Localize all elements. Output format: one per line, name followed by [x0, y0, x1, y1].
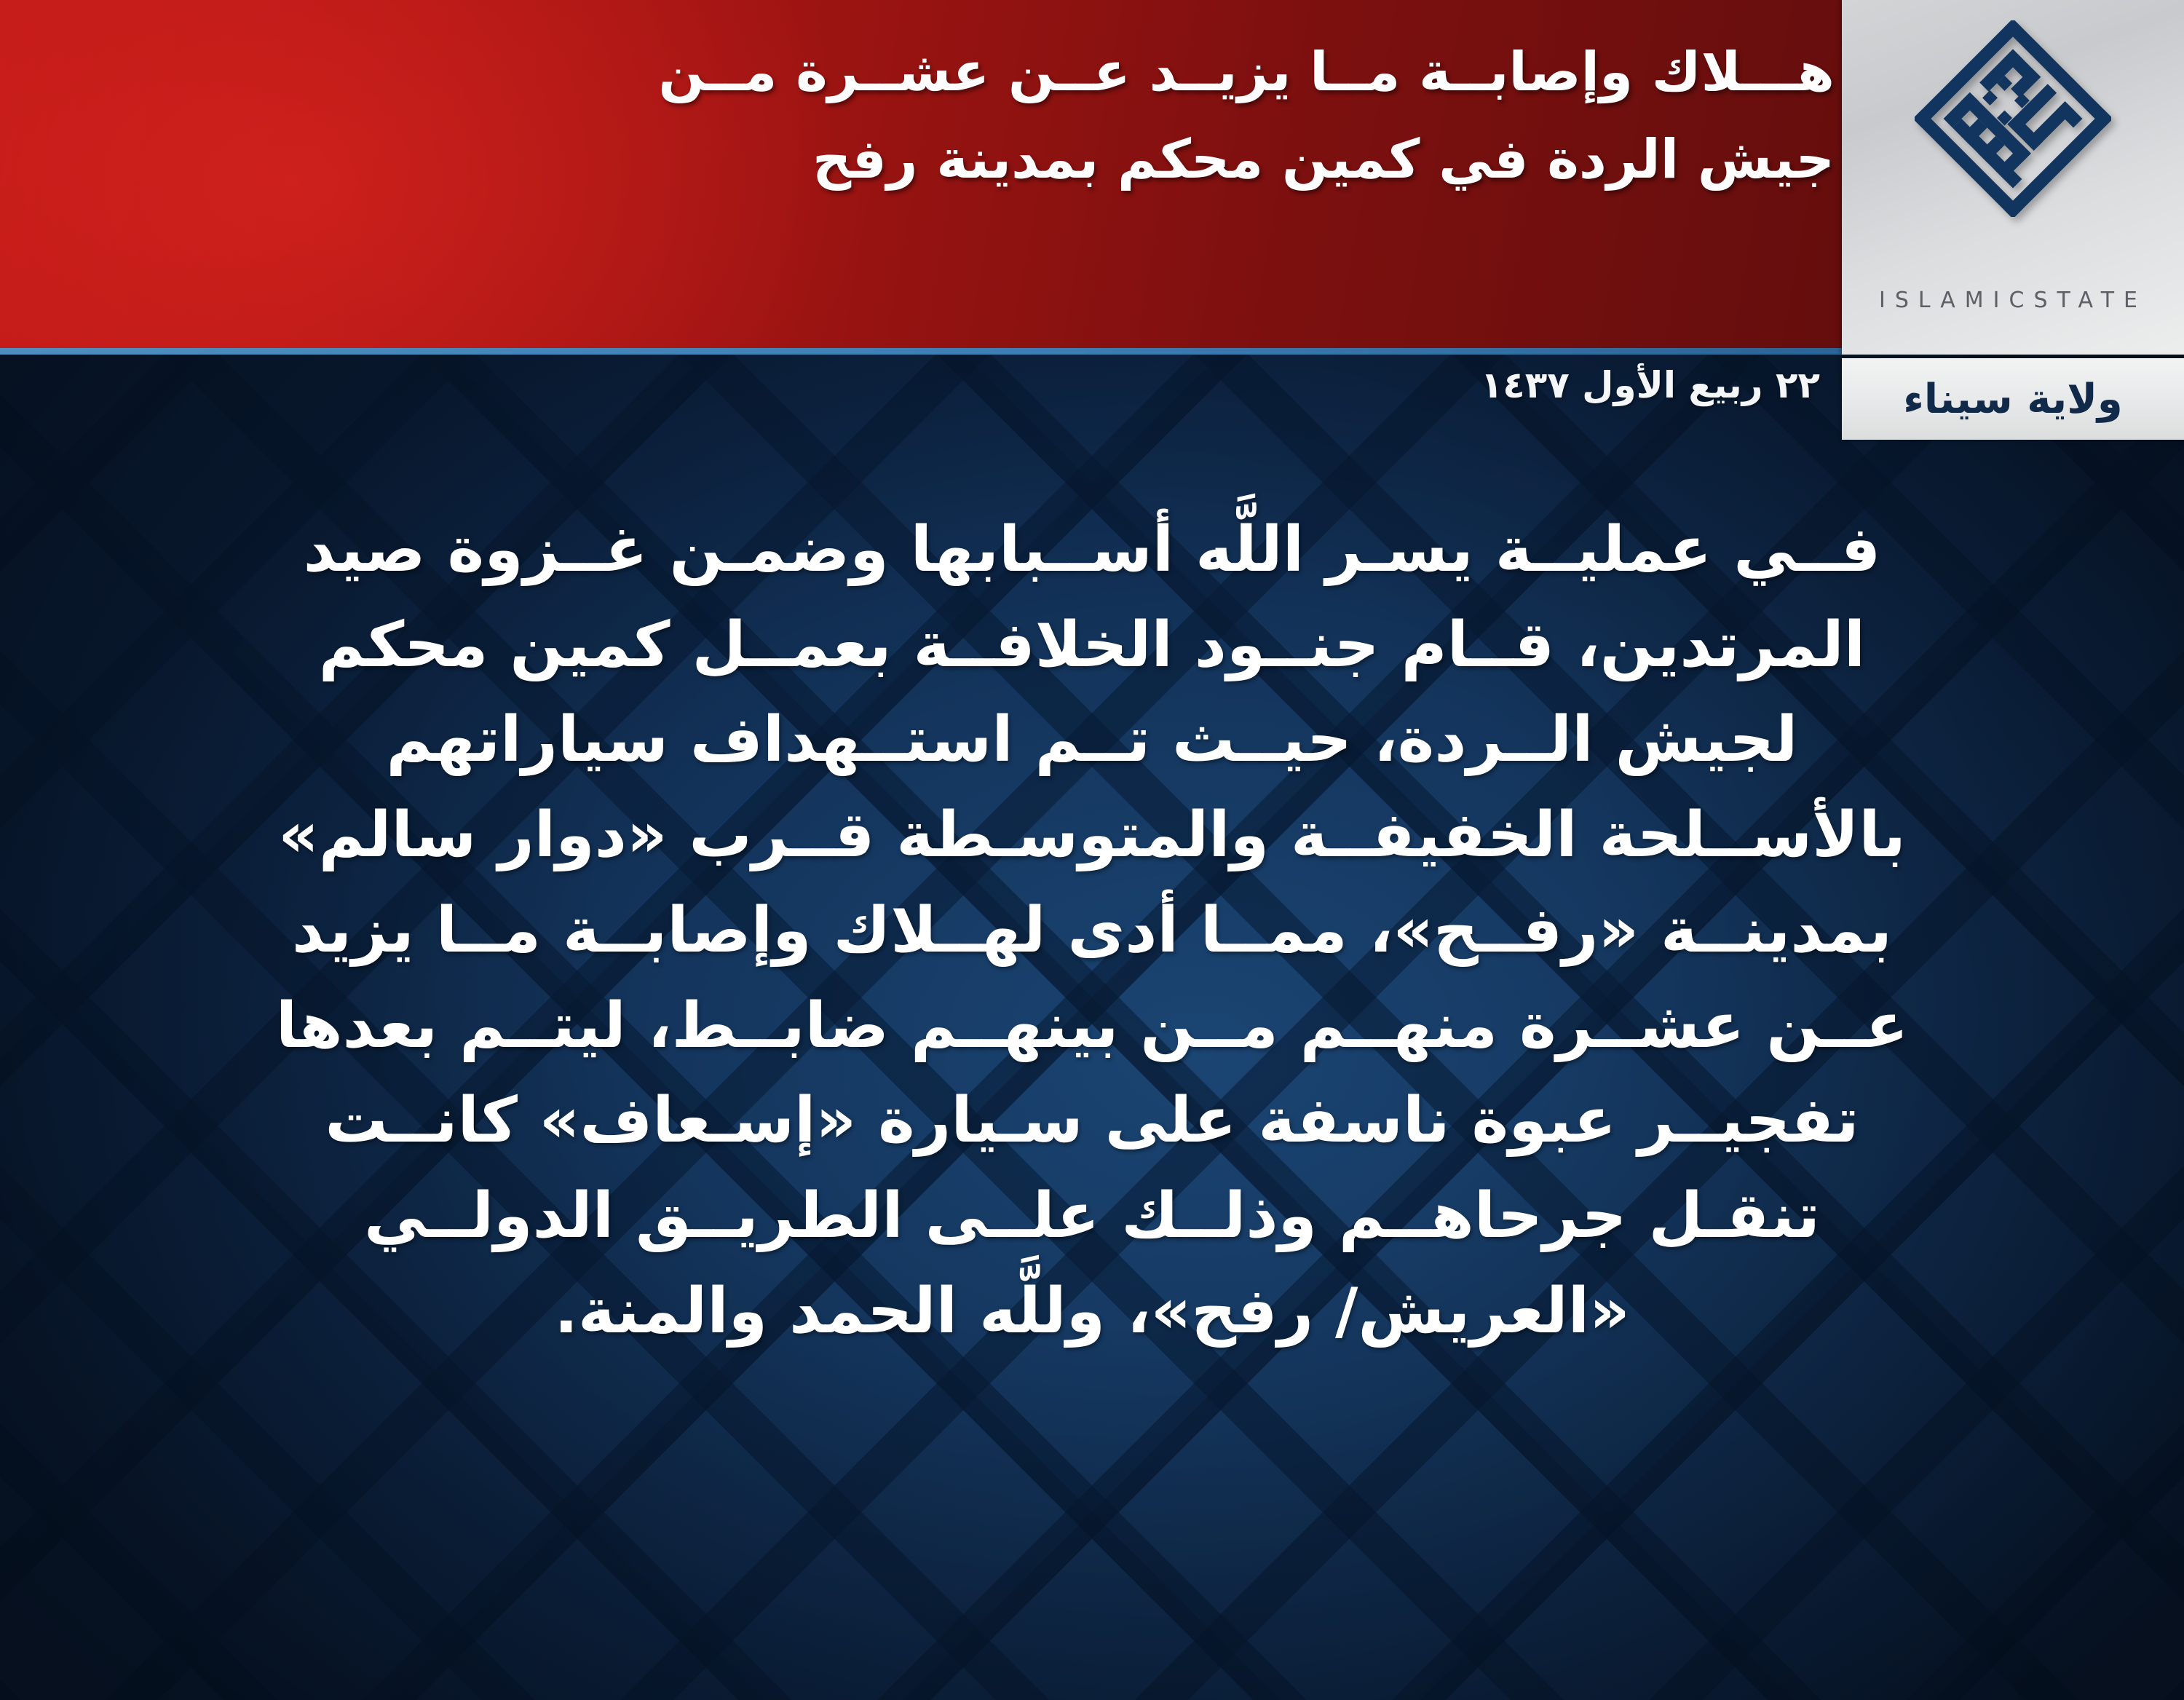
hijri-date: ٢٢ ربيع الأول ١٤٣٧ [1481, 364, 1820, 406]
banner-separator-line [0, 348, 1842, 355]
body-line: تنقـل جرحاهــم وذلــك علــى الطريــق الد… [51, 1169, 2133, 1264]
poster-root: هـــلاك وإصابــة مــا يزيــد عــن عشــرة… [0, 0, 2184, 1700]
body-line: لجيش الــردة، حيــث تــم استــهداف سيارا… [51, 692, 2133, 788]
headline-line-2: جيش الردة في كمين محكم بمدينة رفح [626, 116, 1835, 204]
body-line: عــن عشــرة منهــم مــن بينهــم ضابــط، … [51, 979, 2133, 1074]
logo-panel: ISLAMICSTATE [1842, 0, 2184, 355]
logo-wordmark: ISLAMICSTATE [1842, 288, 2184, 313]
body-line: بالأســلحة الخفيفــة والمتوسـطة قــرب «د… [51, 788, 2133, 883]
body-text-block: فــي عمليــة يسـر اللَّه أســبابها وضمـن… [51, 502, 2133, 1359]
province-badge: ولاية سيناء [1842, 358, 2184, 440]
body-line: «العريش/ رفح»، وللَّه الحمد والمنة. [51, 1264, 2133, 1359]
headline-text-block: هـــلاك وإصابــة مــا يزيــد عــن عشــرة… [626, 29, 1835, 204]
body-line: فــي عمليــة يسـر اللَّه أســبابها وضمـن… [51, 502, 2133, 598]
body-line: المرتدين، قــام جنــود الخلافــة بعمــل … [51, 598, 2133, 693]
headline-line-1: هـــلاك وإصابــة مــا يزيــد عــن عشــرة… [626, 29, 1835, 116]
province-name: ولاية سيناء [1903, 376, 2122, 423]
body-line: بمدينــة «رفــح»، ممــا أدى لهــلاك وإصا… [51, 883, 2133, 979]
body-line: تفجيــر عبوة ناسفة على سـيارة «إسـعاف» ك… [51, 1073, 2133, 1169]
islamic-state-seal-icon [1915, 20, 2111, 217]
